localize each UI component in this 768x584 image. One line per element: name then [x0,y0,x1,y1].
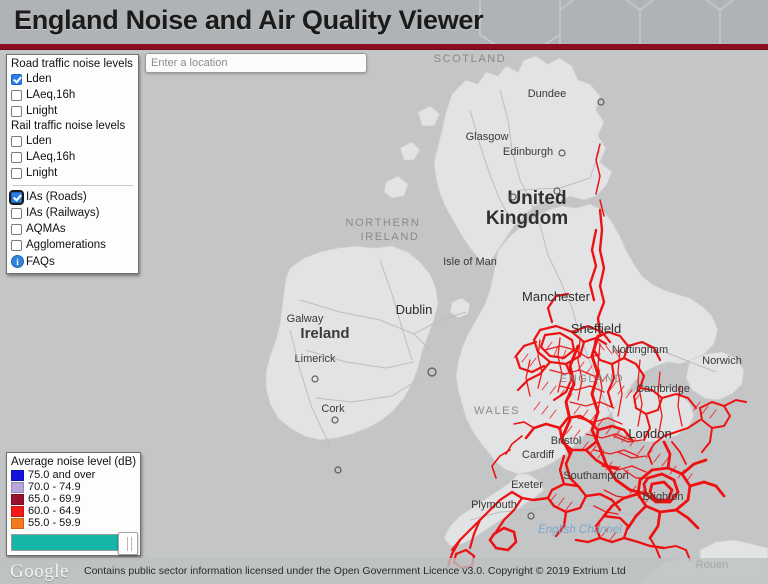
checkbox-agglomerations[interactable] [11,240,22,251]
map-label: ENGLAND [560,373,624,385]
legend-entry: 65.0 - 69.9 [11,493,137,505]
checkbox-label: Agglomerations [26,239,106,252]
map-label: Kingdom [486,208,568,229]
map-label: IRELAND [361,231,420,243]
app-header: England Noise and Air Quality Viewer [0,0,768,44]
google-logo[interactable]: Google [10,561,69,583]
layer-checkbox-row[interactable]: Lden [11,71,134,87]
map-label: Manchester [522,289,591,304]
faqs-label: FAQs [26,256,55,268]
map-label: Norwich [702,355,742,367]
checkbox-laeq-16h[interactable] [11,90,22,101]
slider-handle[interactable] [118,532,138,555]
map-label: London [628,426,671,441]
layer-checkbox-row[interactable]: IAs (Roads) [11,189,134,205]
opacity-slider[interactable] [11,534,138,551]
layer-checkbox-row[interactable]: LAeq,16h [11,87,134,103]
panel-divider [12,185,133,186]
checkbox-ias-railways[interactable] [11,208,22,219]
map-label: Ireland [300,325,349,342]
map-label: Galway [287,313,324,325]
legend-entry: 60.0 - 64.9 [11,505,137,517]
layer-group-heading: Road traffic noise levels [11,57,134,71]
checkbox-lnight[interactable] [11,106,22,117]
checkbox-label: Lden [26,135,52,148]
checkbox-lden[interactable] [11,74,22,85]
legend-panel: Average noise level (dB) 75.0 and over70… [6,452,141,556]
checkbox-label: LAeq,16h [26,89,75,102]
layer-control-panel[interactable]: Road traffic noise levelsLdenLAeq,16hLni… [6,54,139,274]
map-label: Dublin [396,302,433,317]
map-label: NORTHERN [346,217,421,229]
checkbox-label: IAs (Railways) [26,207,99,220]
legend-entry: 75.0 and over [11,469,137,481]
layer-checkbox-row[interactable]: IAs (Railways) [11,205,134,221]
layer-group-heading: Rail traffic noise levels [11,119,134,133]
checkbox-aqmas[interactable] [11,224,22,235]
map-label: English Channel [538,524,622,536]
search-input[interactable] [145,53,367,73]
legend-swatch [11,518,24,529]
legend-rows: 75.0 and over70.0 - 74.965.0 - 69.960.0 … [11,469,137,529]
layer-checkbox-row[interactable]: AQMAs [11,221,134,237]
legend-swatch [11,482,24,493]
checkbox-label: IAs (Roads) [26,191,87,204]
legend-label: 55.0 - 59.9 [28,517,81,529]
legend-swatch [11,470,24,481]
faqs-link[interactable]: i FAQs [11,253,134,270]
map-label: Glasgow [466,131,509,143]
checkbox-lnight[interactable] [11,168,22,179]
map-label: Dundee [528,88,567,100]
map-label: Exeter [511,479,543,491]
layer-checkbox-row[interactable]: Lden [11,133,134,149]
checkbox-ias-roads[interactable] [11,192,22,203]
legend-label: 70.0 - 74.9 [28,481,81,493]
map-label: WALES [474,405,520,417]
map-footer: Google Contains public sector informatio… [0,558,768,584]
map-label: SCOTLAND [434,53,507,65]
checkbox-label: Lnight [26,167,57,180]
map-label: Isle of Man [443,256,497,268]
checkbox-label: Lnight [26,105,57,118]
info-icon: i [11,255,24,268]
map-label: Nottingham [612,344,668,356]
map-label: Sheffield [571,321,621,336]
map-label: Brighton [643,491,684,503]
legend-entry: 70.0 - 74.9 [11,481,137,493]
legend-entry: 55.0 - 59.9 [11,517,137,529]
map-label: Plymouth [471,499,517,511]
page-title: England Noise and Air Quality Viewer [14,5,483,36]
attribution-text: Contains public sector information licen… [84,565,626,577]
legend-swatch [11,506,24,517]
layer-extra-items: IAs (Roads)IAs (Railways)AQMAsAgglomerat… [11,189,134,253]
map-label: Southampton [563,470,628,482]
layer-checkbox-row[interactable]: Lnight [11,103,134,119]
checkbox-label: AQMAs [26,223,66,236]
legend-label: 60.0 - 64.9 [28,505,81,517]
checkbox-lden[interactable] [11,136,22,147]
checkbox-laeq-16h[interactable] [11,152,22,163]
map-label: Cambridge [636,383,690,395]
legend-swatch [11,494,24,505]
map-label: Bristol [551,435,582,447]
map-label: Cork [321,403,345,415]
map-label: Cardiff [522,449,555,461]
layer-checkbox-row[interactable]: LAeq,16h [11,149,134,165]
legend-label: 75.0 and over [28,469,95,481]
layer-checkbox-row[interactable]: Agglomerations [11,237,134,253]
legend-title: Average noise level (dB) [11,455,137,469]
map-label: United [507,188,566,209]
checkbox-label: LAeq,16h [26,151,75,164]
legend-label: 65.0 - 69.9 [28,493,81,505]
search-box[interactable] [145,53,367,73]
layer-groups: Road traffic noise levelsLdenLAeq,16hLni… [11,57,134,181]
layer-checkbox-row[interactable]: Lnight [11,165,134,181]
checkbox-label: Lden [26,73,52,86]
map-label: Limerick [295,353,336,365]
map-label: Edinburgh [503,146,553,158]
